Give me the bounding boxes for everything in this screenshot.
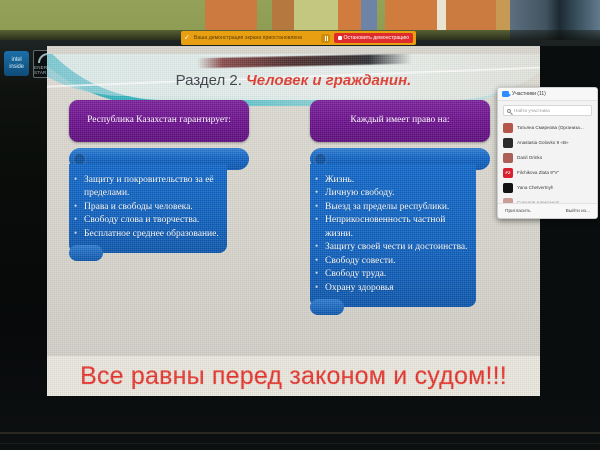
screen-share-toolbar: ✓ Ваша демонстрация экрана приостановлен… [181,31,416,45]
list-item[interactable]: Anastasia Golovko 9 «В» [498,135,597,150]
list-item: Защиту и покровительство за её пределами… [73,174,221,201]
invite-button[interactable]: Пригласить [505,209,531,214]
right-scroll-body: Жизнь. Личную свободу. Выезд за пределы … [310,164,476,307]
left-scroll-body: Защиту и покровительство за её пределами… [69,164,227,253]
list-item: Свободу труда. [314,268,470,281]
stop-square-icon [338,36,342,40]
participant-search-placeholder: Найти участника [514,108,550,113]
stop-share-button[interactable]: Остановить демонстрацию [334,33,413,43]
participant-name: Yana Chetvertnyh [517,185,553,190]
list-item: Жизнь. [314,174,470,187]
column-left: Республика Казахстан гарантирует: Защиту… [69,100,249,253]
share-status-message: Ваша демонстрация экрана приостановлена [194,35,317,41]
participants-title: Участники (11) [512,91,546,97]
list-item: Права и свободы человека. [73,201,221,214]
wall-panel-light [437,0,446,30]
stop-share-label: Остановить демонстрацию [344,35,409,41]
left-scroll-shape: Защиту и покровительство за её пределами… [69,148,249,253]
zoom-video-icon [502,91,509,97]
list-item: Личную свободу. [314,187,470,200]
list-item: Защиту своей чести и достоинства. [314,241,470,254]
pause-share-icon[interactable] [321,34,330,43]
list-item: Выезд за пределы республики. [314,201,470,214]
participant-name: Соколов Александр [517,200,559,203]
participants-header: Участники (11) [498,88,597,101]
wall-panel-orange-5 [446,0,496,30]
participants-panel[interactable]: Участники (11) Найти участника Татьяна С… [497,87,598,219]
list-item[interactable]: Соколов Александр [498,195,597,203]
column-right: Каждый имеет право на: Жизнь. Личную сво… [310,100,490,307]
bezel-highlight-line [0,432,600,434]
avatar [503,138,513,148]
left-rights-list: Защиту и покровительство за её пределами… [73,174,221,241]
avatar [503,183,513,193]
right-header-box: Каждый имеет право на: [310,100,490,142]
right-rights-list: Жизнь. Личную свободу. Выезд за пределы … [314,174,470,295]
avatar: FZ [503,168,513,178]
participant-name: Татьяна Смирнова (Организа... [517,125,584,130]
background-person [361,0,377,30]
list-item[interactable]: Татьяна Смирнова (Организа... [498,120,597,135]
participant-name: Danil Orinko [517,155,542,160]
avatar [503,198,513,204]
wall-panel-orange-4 [385,0,437,30]
right-scroll-shape: Жизнь. Личную свободу. Выезд за пределы … [310,148,490,307]
intel-sticker: intel inside [4,51,29,76]
avatar [503,123,513,133]
list-item[interactable]: FZ Filchikova Zlata 9"V" [498,165,597,180]
list-item[interactable]: Danil Orinko [498,150,597,165]
slide-title-accent: Человек и гражданин. [246,72,411,89]
wall-panel-tan [496,0,510,30]
list-item: Охрану здоровья [314,282,470,295]
participants-list[interactable]: Татьяна Смирнова (Организа... Anastasia … [498,119,597,203]
wall-panel-pale [294,0,338,30]
list-item: Свободу совести. [314,255,470,268]
list-item: Неприкосновенность частной жизни. [314,214,470,241]
screen-content: Раздел 2. Человек и гражданин. Республик… [47,46,540,396]
share-check-icon: ✓ [184,34,190,41]
list-item[interactable]: Yana Chetvertnyh [498,180,597,195]
leave-meeting-button[interactable]: Выйти из... [566,209,590,214]
participants-footer: Пригласить Выйти из... [498,203,597,218]
left-scroll-bottom-roll [69,245,103,261]
avatar [503,153,513,163]
banner-text: Все равны перед законом и судом!!! [80,362,507,391]
participant-search-input[interactable]: Найти участника [503,105,592,116]
participant-name: Anastasia Golovko 9 «В» [517,140,569,145]
list-item: Свободу слова и творчества. [73,214,221,227]
bezel-highlight-line-2 [0,443,600,444]
search-icon [507,109,511,113]
slide-bottom-banner: Все равны перед законом и судом!!! [47,356,540,396]
right-scroll-bottom-roll [310,299,344,315]
slide-title-plain: Раздел 2. [176,72,242,89]
screenshot-root: intel inside ENERGY STAR Раздел 2. Челов… [0,0,600,450]
list-item: Бесплатное среднее образование. [73,228,221,241]
wall-panel-orange-2 [272,0,294,30]
wall-panel-orange-1 [205,0,257,30]
slide-title: Раздел 2. Человек и гражданин. [47,72,540,89]
participant-name: Filchikova Zlata 9"V" [517,170,559,175]
left-header-box: Республика Казахстан гарантирует: [69,100,249,142]
intel-sticker-line2: inside [9,64,23,70]
